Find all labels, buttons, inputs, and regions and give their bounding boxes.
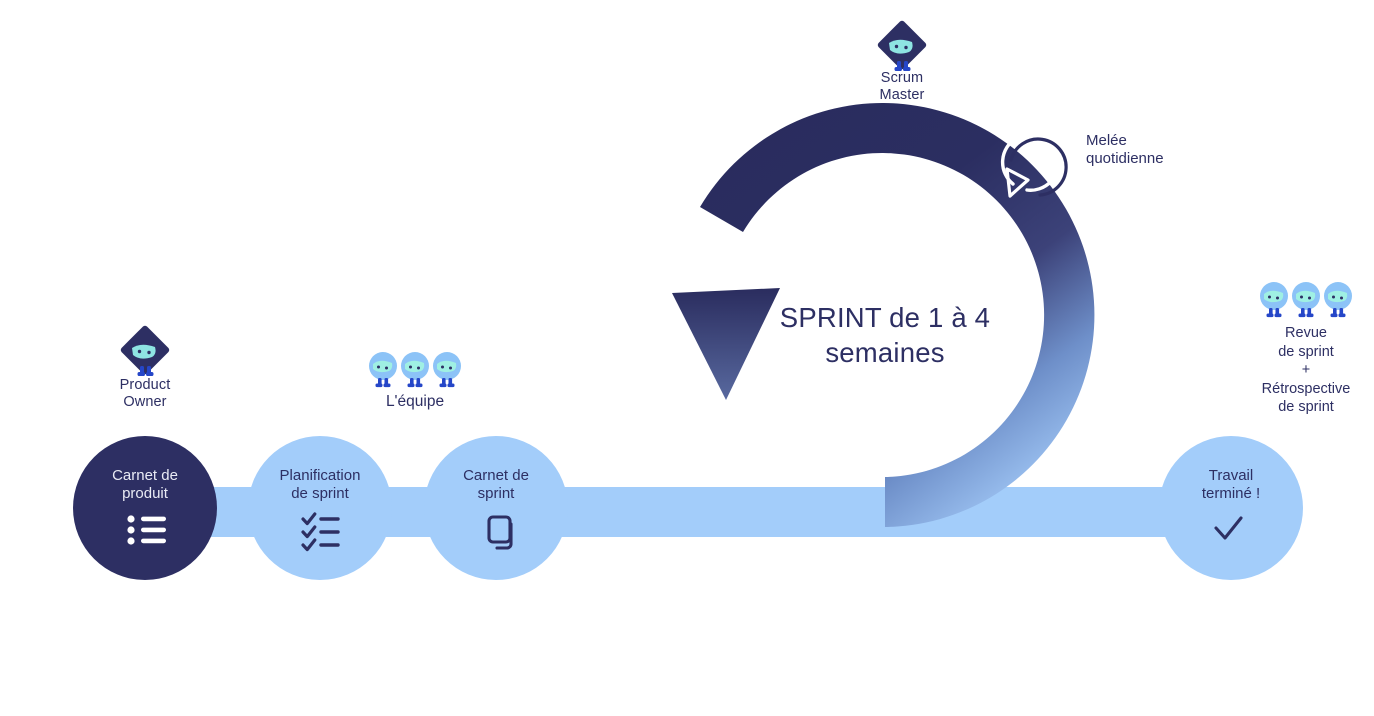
team-label-sprint-review: Revue de sprint + Rétrospective de sprin…	[1226, 324, 1374, 417]
node-circle-work-done[interactable]	[1159, 436, 1303, 580]
three-people-icon-sprint-review	[1260, 282, 1352, 317]
bullet-list-icon	[127, 515, 166, 544]
scrum-diagram: Product Owner Scrum Master L'équipe Revu…	[0, 0, 1374, 716]
node-circle-sprint-backlog[interactable]	[424, 436, 568, 580]
role-label-scrum-master: Scrum Master	[822, 70, 982, 104]
node-label-product-backlog: Carnet de produit	[65, 467, 225, 503]
daily-scrum-label: Melée quotidienne	[1086, 132, 1216, 168]
node-circle-sprint-planning[interactable]	[248, 436, 392, 580]
team-label-equipe: L'équipe	[335, 393, 495, 411]
diagram-canvas	[0, 0, 1374, 716]
node-label-sprint-planning: Planification de sprint	[240, 467, 400, 503]
ninja-diamond-icon-product-owner	[120, 325, 171, 376]
node-label-work-done: Travail terminé !	[1151, 467, 1311, 503]
ninja-diamond-icon-scrum-master	[877, 20, 928, 71]
role-label-product-owner: Product Owner	[65, 377, 225, 411]
node-label-sprint-backlog: Carnet de sprint	[416, 467, 576, 503]
three-people-icon-team	[369, 352, 461, 387]
sprint-duration-label: SPRINT de 1 à 4 semaines	[740, 300, 1030, 370]
node-circle-product-backlog[interactable]	[73, 436, 217, 580]
